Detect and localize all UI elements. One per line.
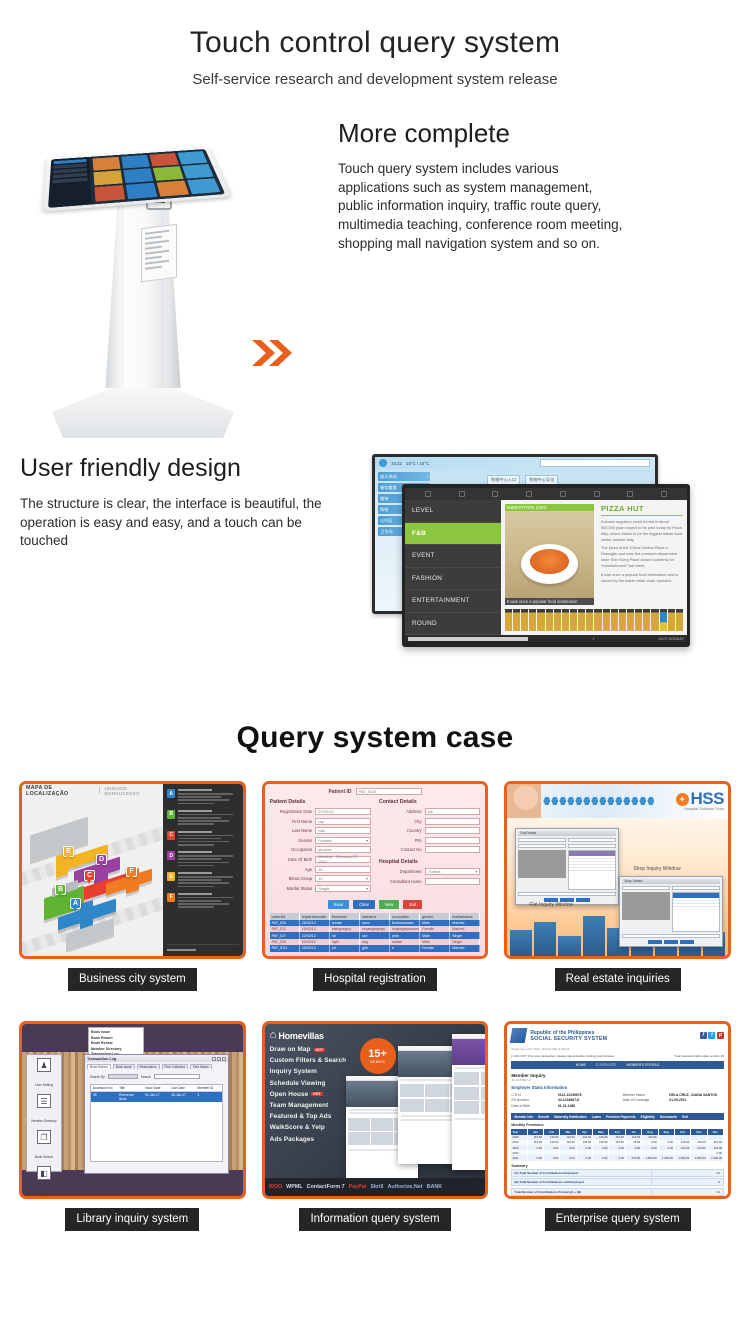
feature-item: Custom Filters & Search [270, 1057, 367, 1064]
thumbnail-item[interactable] [505, 609, 512, 631]
payment-logos-bar: WOOWPMLContactForm 7PayPalSkrillAuthoriz… [265, 1178, 486, 1196]
thumbnail-item[interactable] [586, 609, 593, 631]
table-cell: ghh [360, 945, 390, 951]
search-by-select[interactable] [108, 1074, 138, 1079]
case-hospital-registration[interactable]: Patient ID PAT_ID15 Patient Details Regi… [262, 781, 489, 991]
patient-id-label: Patient ID [328, 789, 351, 795]
info-value: DELA CRUZ, JUANA SANTOS [669, 1093, 717, 1097]
building-icon[interactable] [560, 491, 566, 497]
table-row[interactable]: PAT_ID1125/02/12prlghheFemaleMarried [270, 945, 481, 951]
case-information-query-system[interactable]: ⌂ Homevillas Draw on MapHOTCustom Filter… [262, 1021, 489, 1231]
hss-brand-sub: Hospital Software Shop [676, 807, 724, 811]
window-titlebar: Shop Details [622, 879, 720, 884]
row-spacer [19, 997, 731, 1015]
field-label: Department [379, 869, 422, 874]
case-thumbnail[interactable]: ⌂ Homevillas Draw on MapHOTCustom Filter… [262, 1021, 489, 1199]
map-legend-item-d[interactable]: D [167, 851, 238, 868]
kiosk-tile[interactable] [177, 151, 207, 164]
summary-title: Summary [511, 1164, 724, 1168]
field-label: First Name [270, 819, 313, 824]
front-nav-item-event[interactable]: EVENT [405, 545, 501, 568]
info-row: Date of Coverage01-05-2011 [623, 1098, 724, 1102]
kiosk-tile[interactable] [157, 180, 189, 196]
toolbar-member-directory-icon[interactable]: ☰Member Directory [31, 1094, 56, 1127]
case-business-city-system[interactable]: MAPA DE LOCALIZAÇÃO UNIDADE BONSUCESSO [19, 781, 246, 991]
form-field[interactable]: City [379, 818, 480, 825]
front-nav-item-f-b[interactable]: F&B [405, 523, 501, 546]
table-cell: 0.00 [593, 1155, 609, 1160]
form-field[interactable]: PIN [379, 837, 480, 844]
kiosk-tile[interactable] [150, 153, 179, 166]
summary-label: Total Number of Contributions Posted (A)… [512, 1189, 651, 1195]
field-label: Age [270, 867, 313, 872]
map-subtitle: UNIDADE BONSUCESSO [104, 786, 163, 796]
save-button[interactable]: Save [328, 900, 350, 909]
medical-cross-icon: + [676, 793, 689, 806]
info-key: Member Name [623, 1093, 666, 1097]
thumbnail-item[interactable] [513, 609, 520, 631]
page-header: Touch control query system Self-service … [0, 0, 750, 88]
front-nav-item-entertainment[interactable]: ENTERTAINMENT [405, 590, 501, 613]
field-label: Date Of Birth [270, 857, 313, 862]
info-value: 01-01-1980 [558, 1104, 575, 1108]
page-subtitle: 34-1234567-8 [511, 1078, 724, 1082]
kiosk-tile[interactable] [182, 164, 214, 179]
clear-button[interactable]: Clear [353, 900, 375, 909]
member-directory-icon: ☰ [37, 1094, 51, 1108]
transaction-table-row[interactable]: 35Reference Book01-Jan-1708-Jan-173 [91, 1092, 222, 1102]
case-label: Real estate inquiries [555, 968, 681, 991]
form-field[interactable]: Marital StatusSingle▾ [270, 885, 371, 892]
thumbnail-item[interactable] [611, 609, 618, 631]
kiosk-screen-sidebar [48, 157, 92, 208]
summary-label: Total Amount of Contributions [512, 1198, 651, 1199]
kiosk-tile[interactable] [124, 168, 154, 183]
scrollbar[interactable] [408, 637, 528, 641]
table-cell: 2011 [511, 1155, 527, 1160]
feature-label: Open House [270, 1091, 309, 1098]
table-cell: 0.00 [560, 1155, 576, 1160]
info-row: Member NameDELA CRUZ, JUANA SANTOS [623, 1093, 724, 1097]
table-cell: 0.00 [577, 1155, 593, 1160]
kiosk-tile[interactable] [126, 183, 158, 199]
member-tab[interactable]: Premium Payments [606, 1115, 636, 1119]
field-input[interactable] [425, 878, 481, 885]
thumbnail-item[interactable] [570, 609, 577, 631]
government-seal-icon [510, 1028, 528, 1043]
case-thumbnail[interactable]: Book IssueBook ReturnBook RenewMember Di… [19, 1021, 246, 1199]
field-input[interactable] [425, 837, 481, 844]
form-field[interactable]: Addresssrk [379, 808, 480, 815]
section-more-complete: More complete Touch query system include… [0, 104, 750, 454]
thumbnail-item[interactable] [627, 609, 634, 631]
patients-table-body[interactable]: PAT_ID626/02/12kumarsanuBusinessmenMaleM… [270, 920, 481, 952]
minimize-icon [212, 1057, 216, 1061]
field-input[interactable]: -Select-▾ [425, 868, 481, 875]
case-thumbnail[interactable]: Republic of the Philippines SOCIAL SECUR… [504, 1021, 731, 1199]
member-tab[interactable]: Member Info [514, 1115, 533, 1119]
globe-icon[interactable] [627, 491, 633, 497]
thumbnail-item[interactable] [594, 609, 601, 631]
toolbar-label: User Setting [35, 1083, 53, 1087]
pinterest-icon[interactable]: p [717, 1032, 724, 1039]
kiosk-tile[interactable] [121, 155, 150, 169]
field-input[interactable]: student [315, 846, 371, 853]
field-label: Blood Group [270, 876, 313, 881]
info-icon[interactable] [661, 491, 667, 497]
menu-item[interactable]: Member Directory [91, 1047, 141, 1051]
payment-logo: WOO [269, 1184, 282, 1190]
food-photo [505, 511, 594, 598]
member-tab[interactable]: Loans [592, 1115, 601, 1119]
menu-item[interactable]: Book Renew [91, 1041, 141, 1045]
info-row: C.R.N.0112-12345678 [511, 1093, 612, 1097]
shop-inquiry-caption: Shop Inquiry Window [633, 866, 680, 872]
summary-label: (B) Total Number of Contributions self E… [512, 1179, 651, 1185]
info-value: 01-05-2011 [669, 1098, 686, 1102]
member-tab[interactable]: Exit [682, 1115, 688, 1119]
menu-item[interactable]: Book Return [91, 1036, 141, 1040]
table-cell: 01-Jan-17 [143, 1092, 169, 1102]
table-cell: 670.00 [626, 1155, 642, 1160]
thumbnail-item[interactable] [529, 609, 536, 631]
field-input[interactable]: srk [425, 808, 481, 815]
table-cell: 25/02/12 [300, 945, 330, 951]
form-field[interactable]: Blood GroupA+▾ [270, 875, 371, 882]
member-tab[interactable]: Documents [660, 1115, 677, 1119]
map-legend-footer [167, 944, 238, 951]
form-field[interactable]: Age20 [270, 866, 371, 873]
toolbar-user-settings-icon[interactable]: ♟User Setting [35, 1058, 53, 1091]
field-input[interactable]: Monday , February 27, 2012 [315, 856, 371, 863]
hospital-details-heading: Hospital Details [379, 859, 480, 865]
homevillas-brand: Homevillas [278, 1031, 324, 1041]
hss-banner: +HSS Hospital Software Shop [507, 784, 728, 818]
kiosk-tile[interactable] [95, 185, 126, 202]
app-logo-icon [379, 459, 387, 467]
case-thumbnail[interactable]: +HSS Hospital Software Shop Flat Details [504, 781, 731, 959]
site-nav[interactable]: HOMEE-SERVICESMEMBER'S PROFILE [511, 1061, 724, 1069]
premiums-title: Monthly Premiums [511, 1123, 724, 1127]
thumbnail-item[interactable] [562, 609, 569, 631]
field-label: Contact No [379, 847, 422, 852]
search-label: Search [141, 1075, 151, 1079]
table-header-cell: Title [117, 1085, 143, 1091]
table-cell: Reference Book [117, 1092, 143, 1102]
welcome-text: Welcome to My SSS, JUANA DELA CRUZ [511, 1047, 724, 1051]
form-field[interactable]: Department-Select-▾ [379, 868, 480, 875]
front-nav-item-level[interactable]: LEVEL [405, 500, 501, 523]
static-info-right: Member NameDELA CRUZ, JUANA SANTOSDate o… [623, 1093, 724, 1110]
menu-item[interactable]: Book Issue [91, 1030, 141, 1034]
table-header-cell: Due Date [169, 1085, 195, 1091]
more-complete-heading: More complete [338, 118, 628, 149]
payment-logo: WPML [286, 1184, 302, 1190]
cases-grid: MAPA DE LOCALIZAÇÃO UNIDADE BONSUCESSO [0, 781, 750, 1231]
flat-inquiry-window[interactable]: Flat Details [515, 828, 619, 905]
payment-logo: Authorize.Net [388, 1184, 423, 1190]
field-input[interactable]: Single▾ [315, 885, 371, 892]
map-legend-item-b[interactable]: B [167, 810, 238, 827]
info-key: SS Number [511, 1098, 554, 1102]
member-tab[interactable]: Eligibility [641, 1115, 655, 1119]
back-window-statusbar: 10:22 10°C / 16°C [375, 457, 655, 469]
field-input[interactable]: 20 [315, 866, 371, 873]
form-field[interactable]: Country [379, 827, 480, 834]
case-library-inquiry-system[interactable]: Book IssueBook ReturnBook RenewMember Di… [19, 1021, 246, 1231]
payment-logo: Skrill [370, 1184, 383, 1190]
nav-item-e-services[interactable]: E-SERVICES [596, 1063, 616, 1067]
twitter-icon[interactable]: t [708, 1032, 715, 1039]
payment-logo: PayPal [349, 1184, 367, 1190]
window-titlebar: Flat Details [518, 831, 616, 836]
summary-value: 20,120.00 [651, 1198, 723, 1199]
thumbnail-strip[interactable] [505, 605, 683, 631]
form-buttons[interactable]: SaveClearNewExit [270, 900, 481, 909]
table-cell: 1,500.00 [659, 1155, 675, 1160]
feature-item: Ads Packages [270, 1136, 367, 1143]
transaction-log-window[interactable]: Transaction Log Book ReturnBook IssueRes… [84, 1054, 229, 1174]
user-settings-icon: ♟ [37, 1058, 51, 1072]
maximize-icon [217, 1057, 221, 1061]
field-input[interactable] [425, 818, 481, 825]
patient-id-input[interactable]: PAT_ID15 [356, 788, 422, 795]
field-input[interactable]: A+▾ [315, 875, 371, 882]
thumbnail-item[interactable] [521, 609, 528, 631]
thumbnail-item[interactable] [660, 609, 667, 631]
form-field[interactable]: Last Namenah [270, 827, 371, 834]
front-nav-item-fashion[interactable]: FASHION [405, 568, 501, 591]
thumbnail-item[interactable] [676, 609, 683, 631]
info-key: Date of Birth [511, 1104, 554, 1108]
info-value: 0112-12345678 [558, 1093, 582, 1097]
thumbnail-item[interactable] [554, 609, 561, 631]
map-legend-item-c[interactable]: C [167, 831, 238, 848]
feature-label: Ads Packages [270, 1136, 315, 1143]
feature-label: Inquiry System [270, 1068, 317, 1075]
kiosk-tile[interactable] [153, 166, 184, 181]
case-thumbnail[interactable]: Patient ID PAT_ID15 Patient Details Regi… [262, 781, 489, 959]
table-cell: 0.00 [528, 1155, 544, 1160]
thumbnail-item[interactable] [603, 609, 610, 631]
info-row: Date of Birth01-01-1980 [511, 1104, 612, 1108]
pencil-icon[interactable] [425, 491, 431, 497]
case-enterprise-query-system[interactable]: Republic of the Philippines SOCIAL SECUR… [504, 1021, 731, 1231]
thumbnail-item[interactable] [578, 609, 585, 631]
summary-rows: (A) Total Number of Contributions Employ… [511, 1169, 724, 1199]
table-cell: e [390, 945, 420, 951]
demos-label: DEMOS [370, 1060, 385, 1064]
case-label: Library inquiry system [65, 1208, 199, 1231]
campus-map: MAPA DE LOCALIZAÇÃO UNIDADE BONSUCESSO [22, 784, 163, 956]
field-input[interactable] [425, 827, 481, 834]
thumbnail-item[interactable] [668, 609, 675, 631]
field-label: Last Name [270, 828, 313, 833]
exit-button[interactable]: Exit [403, 900, 422, 909]
field-input[interactable]: ray [315, 818, 371, 825]
map-legend[interactable]: ABCDEF [163, 784, 242, 956]
section-user-friendly: User friendly design The structure is cl… [0, 454, 750, 669]
case-thumbnail[interactable]: MAPA DE LOCALIZAÇÃO UNIDADE BONSUCESSO [19, 781, 246, 959]
user-friendly-body: The structure is clear, the interface is… [20, 495, 330, 551]
field-input[interactable] [425, 846, 481, 853]
book-issue-icon: ◧ [37, 1166, 51, 1180]
form-field[interactable]: First Nameray [270, 818, 371, 825]
tab-reservation[interactable]: Reservation [137, 1064, 160, 1069]
table-cell: 3 [196, 1092, 222, 1102]
house-roof-icon: ⌂ [270, 1030, 277, 1041]
table-cell: Female [420, 945, 450, 951]
thumbnail-item[interactable] [635, 609, 642, 631]
feature-label: Team Management [270, 1102, 329, 1109]
content-paragraph: The pizza at the China Central Place in … [601, 545, 683, 568]
table-row: 20110.000.000.000.000.000.00670.001,500.… [511, 1155, 724, 1160]
library-toolbar[interactable]: ♟User Setting☰Member Directory❐Book Sear… [26, 1054, 62, 1172]
member-tab[interactable]: Maternity Notification [554, 1115, 587, 1119]
front-nav-item-round[interactable]: ROUND [405, 613, 501, 636]
facebook-icon[interactable]: f [700, 1032, 707, 1039]
tab-fine-waive[interactable]: Fine Waive [190, 1064, 212, 1069]
feature-list: Draw on MapHOTCustom Filters & SearchInq… [270, 1046, 367, 1143]
front-window-statusbar: 1 24:07 MONDAY [405, 635, 687, 642]
nav-item-member-s-profile[interactable]: MEMBER'S PROFILE [626, 1063, 659, 1067]
contact-details-heading: Contact Details [379, 799, 480, 805]
close-icon [222, 1057, 226, 1061]
info-row: SS Number34-1234567-8 [511, 1098, 612, 1102]
search-by-label: Search By [90, 1075, 105, 1079]
static-info-left: C.R.N.0112-12345678SS Number34-1234567-8… [511, 1093, 612, 1110]
nav-item-home[interactable]: HOME [576, 1063, 586, 1067]
kiosk-tile[interactable] [93, 157, 121, 171]
table-cell: 1,500.00 [708, 1155, 724, 1160]
table-cell: 08-Jan-17 [169, 1092, 195, 1102]
window-controls[interactable] [212, 1057, 226, 1061]
transaction-tabs[interactable]: Book ReturnBook IssueReservationFine Col… [85, 1062, 228, 1071]
map-legend-item-f[interactable]: F [167, 893, 238, 910]
user-friendly-text-block: User friendly design The structure is cl… [20, 454, 330, 551]
back-window-temperature: 10°C / 16°C [406, 461, 429, 466]
thumbnail-item[interactable] [619, 609, 626, 631]
table-header-cell: Accession No [91, 1085, 117, 1091]
thumbnail-item[interactable] [537, 609, 544, 631]
table-cell: Married [450, 945, 480, 951]
field-label: Gender [270, 838, 313, 843]
map-legend-item-a[interactable]: A [167, 789, 238, 806]
tab-fine-collected[interactable]: Fine Collected [162, 1064, 188, 1069]
content-paragraph: It was once a popular food destination a… [601, 572, 683, 584]
form-field[interactable]: Consultant name [379, 878, 480, 885]
kiosk-tile[interactable] [187, 178, 220, 194]
back-window-clock: 10:22 [391, 461, 402, 466]
thumbnail-item[interactable] [643, 609, 650, 631]
tab-book-return[interactable]: Book Return [87, 1064, 111, 1069]
logout-text[interactable]: | LOG OUT | For your protection, please … [511, 1054, 614, 1058]
book-search-icon: ❐ [37, 1130, 51, 1144]
new-button[interactable]: New [379, 900, 399, 909]
field-label: Address [379, 809, 422, 814]
kiosk-touchscreen [43, 147, 232, 212]
kiosk-tile[interactable] [94, 170, 123, 185]
feature-label: Featured & Top Ads [270, 1113, 332, 1120]
table-cell: 1,500.00 [642, 1155, 658, 1160]
form-field[interactable]: Date Of BirthMonday , February 27, 2012 [270, 856, 371, 863]
kiosk-printer-slot [141, 224, 177, 282]
front-window-toolbar[interactable] [405, 488, 687, 500]
home-icon[interactable] [492, 491, 498, 497]
transaction-table-header: Accession NoTitleIssue DateDue DateMembe… [91, 1085, 222, 1092]
bag-icon[interactable] [594, 491, 600, 497]
thumbnail-item[interactable] [546, 609, 553, 631]
field-label: Consultant name [379, 879, 422, 884]
member-tab[interactable]: Benefit [538, 1115, 549, 1119]
password-note: Your password will expire on Nov 15 [674, 1054, 724, 1058]
field-label: Country [379, 828, 422, 833]
photo-footer: It was once a popular food destination [505, 598, 594, 605]
summary-value: 0 [651, 1179, 723, 1185]
summary-row: (A) Total Number of Contributions Employ… [511, 1169, 724, 1177]
feature-item: Team Management [270, 1102, 367, 1109]
org-line2: SOCIAL SECURITY SYSTEM [530, 1036, 607, 1042]
toolbar-book-search-icon[interactable]: ❐Book Search [35, 1130, 53, 1163]
toolbar-book-issue-icon[interactable]: ◧Book Issue [36, 1166, 52, 1196]
field-label: Marital Status [270, 886, 313, 891]
form-field[interactable]: GenderFemale▾ [270, 837, 371, 844]
feature-item: Draw on MapHOT [270, 1046, 367, 1053]
document-icon[interactable] [526, 491, 532, 497]
toolbar-label: Member Directory [31, 1119, 56, 1123]
demos-badge: 15+ DEMOS [360, 1038, 396, 1074]
member-tabs[interactable]: Member InfoBenefitMaternity Notification… [511, 1113, 724, 1120]
feature-label: Custom Filters & Search [270, 1057, 347, 1064]
demo-front-window: LEVELF&BEVENTFASHIONENTERTAINMENTROUND M… [402, 484, 690, 647]
page-subtitle: Self-service research and development sy… [0, 71, 750, 88]
kiosk-column-highlight [124, 190, 164, 388]
table-cell: 35 [91, 1092, 117, 1102]
front-window-nav[interactable]: LEVELF&BEVENTFASHIONENTERTAINMENTROUND [405, 500, 501, 635]
share-icon[interactable] [459, 491, 465, 497]
touch-kiosk-product-photo [38, 104, 248, 449]
tab-book-issue[interactable]: Book Issue [113, 1064, 135, 1069]
form-field[interactable]: Occupationstudent [270, 846, 371, 853]
field-input[interactable]: Female▾ [315, 837, 371, 844]
shop-inquiry-window[interactable]: Shop Details [619, 876, 723, 947]
toolbar-label: Book Issue [36, 1191, 52, 1195]
form-field[interactable]: Contact No [379, 846, 480, 853]
field-input[interactable]: nah [315, 827, 371, 834]
case-real-estate-inquiries[interactable]: +HSS Hospital Software Shop Flat Details [504, 781, 731, 991]
search-input[interactable] [540, 459, 650, 467]
table-cell: 1,500.00 [691, 1155, 707, 1160]
table-cell: 0.00 [609, 1155, 625, 1160]
patient-details-heading: Patient Details [270, 799, 371, 805]
thumbnail-item[interactable] [651, 609, 658, 631]
social-links[interactable]: f t p [700, 1032, 724, 1039]
double-chevron-right-icon [250, 338, 294, 373]
form-field[interactable]: Registration Date27/02/12 [270, 808, 371, 815]
feature-item: Featured & Top Ads [270, 1113, 367, 1120]
table-header-cell: Member ID [196, 1085, 222, 1091]
hex-network-graphic [541, 797, 675, 805]
hot-badge: HOT [311, 1092, 322, 1096]
field-input[interactable]: 27/02/12 [315, 808, 371, 815]
back-menu-item[interactable]: 娱乐休闲› [378, 472, 430, 481]
payment-logo: BANK [427, 1184, 443, 1190]
summary-row: Total Amount of Contributions20,120.00 [511, 1197, 724, 1199]
hss-brand: HSS [691, 789, 724, 808]
content-paragraph: A dozen suppliers owed a total of about … [601, 519, 683, 542]
map-legend-item-e[interactable]: E [167, 872, 238, 889]
search-input[interactable] [154, 1074, 200, 1079]
